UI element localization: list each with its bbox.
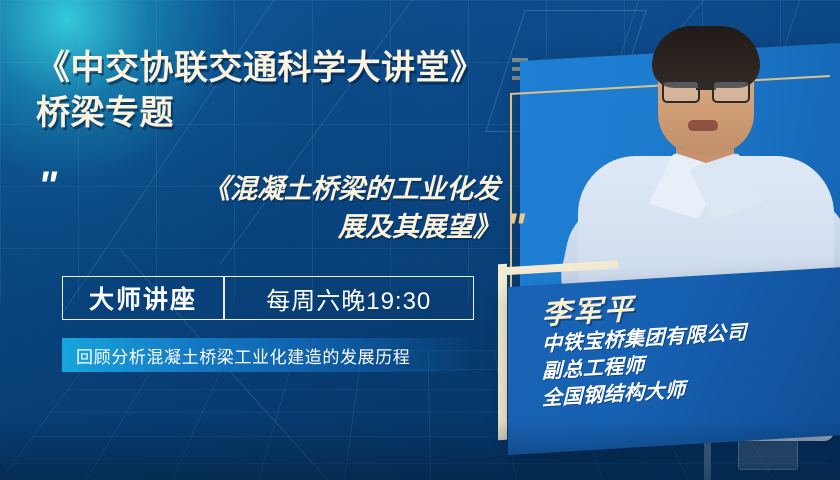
description-text: 回顾分析混凝土桥梁工业化建造的发展历程 xyxy=(62,343,410,368)
subtitle-text: 《混凝土桥梁的工业化发 展及其展望》 xyxy=(80,170,500,247)
quote-close-icon: " xyxy=(506,208,522,248)
portrait-mouth xyxy=(688,120,718,131)
portrait-hair xyxy=(652,26,760,88)
description-bar: 回顾分析混凝土桥梁工业化建造的发展历程 xyxy=(62,338,474,372)
portrait-glasses-icon xyxy=(662,80,750,100)
panel-gold-left-edge xyxy=(498,264,507,441)
speaker-info-content: 李军平 中铁宝桥集团有限公司 副总工程师 全国钢结构大师 xyxy=(508,267,840,455)
subtitle-line-1: 《混凝土桥梁的工业化发 xyxy=(203,174,500,204)
title-line-2: 桥梁专题 xyxy=(36,91,536,136)
promo-poster: 《中交协联交通科学大讲堂》 桥梁专题 " 《混凝土桥梁的工业化发 展及其展望》 … xyxy=(0,0,840,480)
lecture-type-label: 大师讲座 xyxy=(63,280,223,316)
subtitle-block: " 《混凝土桥梁的工业化发 展及其展望》 " xyxy=(36,166,546,266)
subtitle-line-2: 展及其展望》 xyxy=(338,212,500,242)
lecture-info-box: 大师讲座 每周六晚19:30 xyxy=(62,276,474,320)
quote-open-icon: " xyxy=(38,166,54,206)
title-line-1: 《中交协联交通科学大讲堂》 xyxy=(36,46,536,91)
page-title: 《中交协联交通科学大讲堂》 桥梁专题 xyxy=(36,46,536,136)
lecture-schedule-label: 每周六晚19:30 xyxy=(225,281,474,316)
